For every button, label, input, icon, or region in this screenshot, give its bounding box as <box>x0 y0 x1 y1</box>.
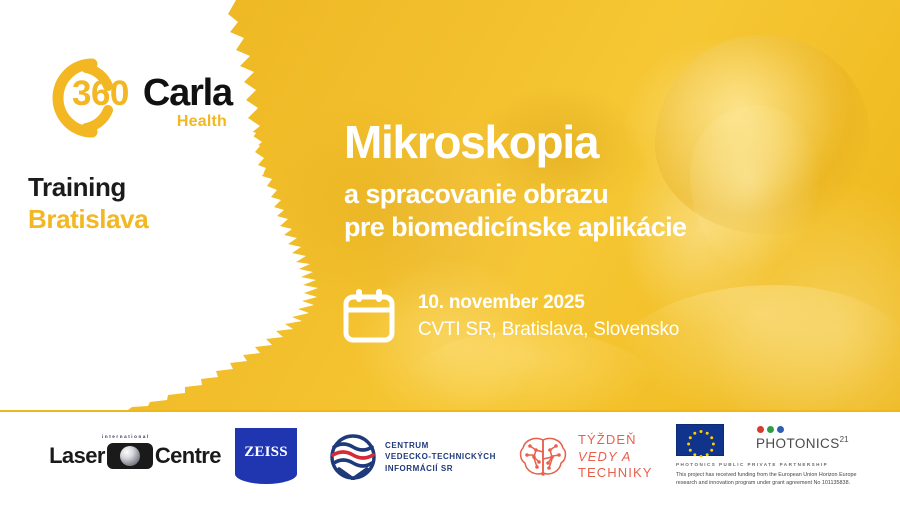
tvt-line-1: TÝŽDEŇ <box>578 432 653 449</box>
tyzden-vedy-a-techniky-logo[interactable]: TÝŽDEŇ VEDY A TECHNIKY <box>518 432 653 482</box>
title-group: Mikroskopia a spracovanie obrazu pre bio… <box>344 118 686 244</box>
photonics-dot-red <box>757 426 764 433</box>
cvti-sr-wordmark: CENTRUM VEDECKO-TECHNICKÝCH INFORMÁCIÍ S… <box>385 440 496 475</box>
laser-centre-word-2: Centre <box>155 443 221 469</box>
funding-disclaimer: This project has received funding from t… <box>676 471 866 488</box>
laser-centre-lens-icon <box>107 443 153 469</box>
event-date-block: 10. november 2025 CVTI SR, Bratislava, S… <box>342 288 679 344</box>
date-text-group: 10. november 2025 CVTI SR, Bratislava, S… <box>418 291 679 342</box>
subtitle-group: a spracovanie obrazu pre biomedicínske a… <box>344 178 686 244</box>
subtitle-line-2: pre biomedicínske aplikácie <box>344 211 686 244</box>
logo-lockup: 360 Carla Health <box>28 52 243 152</box>
page-title: Mikroskopia <box>344 118 686 166</box>
logo-wordmark: 360 Carla Health <box>72 74 232 131</box>
photonics-dot-blue <box>777 426 784 433</box>
cvti-line-3: INFORMÁCIÍ SR <box>385 463 496 475</box>
laser-centre-sphere <box>120 446 140 466</box>
cvti-sr-globe-icon <box>330 434 376 480</box>
tvt-line-3: TECHNIKY <box>578 465 653 482</box>
hero-banner: 360 Carla Health Training Bratislava Mik… <box>0 0 900 410</box>
calendar-icon <box>342 288 396 344</box>
cvti-line-2: VEDECKO-TECHNICKÝCH <box>385 451 496 463</box>
photonics21-superscript: 21 <box>840 435 849 444</box>
event-poster: 360 Carla Health Training Bratislava Mik… <box>0 0 900 510</box>
event-date: 10. november 2025 <box>418 291 679 315</box>
international-laser-centre-logo[interactable]: international Laser Centre <box>40 437 230 475</box>
zeiss-wordmark: ZEISS <box>244 444 288 461</box>
brain-circuit-icon <box>518 434 568 480</box>
laser-centre-word-1: Laser <box>49 443 105 469</box>
eu-photonics21-funding-block: PHOTONICS21 PHOTONICS PUBLIC PRIVATE PAR… <box>676 424 876 488</box>
photonics21-dots-icon <box>757 426 849 433</box>
logo-health-text: Health <box>72 113 227 131</box>
eu-stars <box>677 425 725 457</box>
city-label: Bratislava <box>28 204 288 235</box>
tvt-line-2: VEDY A <box>578 449 653 466</box>
logo-360-text: 360 <box>72 76 129 111</box>
laser-centre-superscript: international <box>102 434 150 439</box>
logo-carla-text: Carla <box>143 74 232 112</box>
zeiss-logo[interactable]: ZEISS <box>235 428 297 484</box>
photonics21-wordmark: PHOTONICS <box>756 436 840 451</box>
brand-logo-block: 360 Carla Health Training Bratislava <box>28 52 288 235</box>
tvt-wordmark: TÝŽDEŇ VEDY A TECHNIKY <box>578 432 653 482</box>
photonics21-logo[interactable]: PHOTONICS21 <box>756 424 849 453</box>
event-location: CVTI SR, Bratislava, Slovensko <box>418 318 679 342</box>
photonics-ppp-tagline: PHOTONICS PUBLIC PRIVATE PARTNERSHIP <box>676 462 876 467</box>
photonics-dot-green <box>767 426 774 433</box>
cvti-line-1: CENTRUM <box>385 440 496 452</box>
subtitle-line-1: a spracovanie obrazu <box>344 178 686 211</box>
cvti-sr-logo[interactable]: CENTRUM VEDECKO-TECHNICKÝCH INFORMÁCIÍ S… <box>330 434 496 480</box>
photo-face-shape <box>690 105 820 270</box>
training-label: Training <box>28 172 288 203</box>
european-union-flag-icon <box>676 424 724 456</box>
